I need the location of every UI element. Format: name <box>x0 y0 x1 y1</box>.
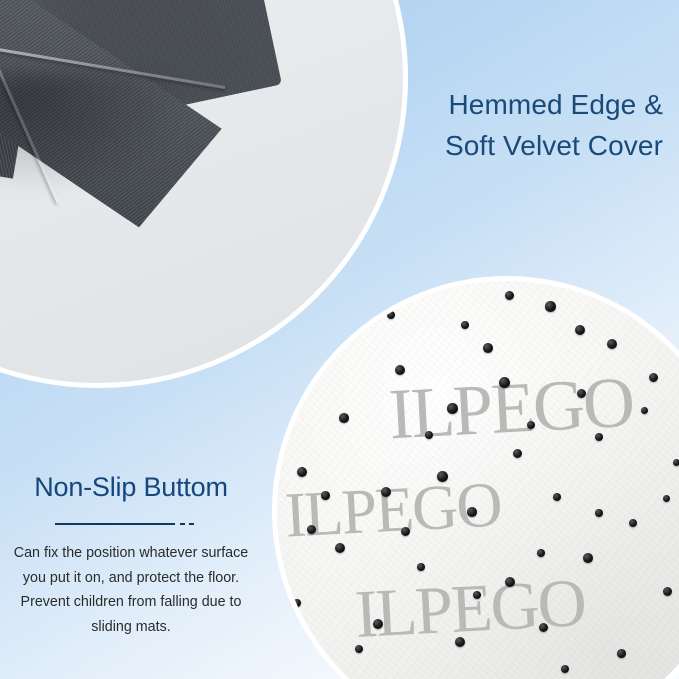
antislip-dot <box>425 431 433 439</box>
antislip-dot <box>617 649 626 658</box>
antislip-dot <box>381 487 391 497</box>
antislip-dot <box>307 525 316 534</box>
antislip-dot <box>663 495 670 502</box>
antislip-dot <box>499 377 510 388</box>
antislip-dot <box>673 343 679 353</box>
antislip-dot <box>607 339 617 349</box>
antislip-dot <box>527 421 535 429</box>
antislip-dot <box>395 365 405 375</box>
antislip-dot <box>505 577 515 587</box>
antislip-dot <box>297 467 307 477</box>
antislip-dot <box>401 527 410 536</box>
antislip-dot <box>355 645 363 653</box>
antislip-dot <box>293 599 301 607</box>
antislip-dot <box>595 509 603 517</box>
top-headline: Hemmed Edge & Soft Velvet Cover <box>363 84 663 167</box>
antislip-dot <box>335 543 345 553</box>
antislip-dot <box>461 321 469 329</box>
antislip-dot <box>673 459 679 466</box>
antislip-dot <box>417 563 425 571</box>
antislip-dot <box>575 325 585 335</box>
antislip-dot <box>663 587 672 596</box>
antislip-dot-pattern <box>277 281 679 679</box>
antislip-dot <box>321 491 330 500</box>
product-feature-graphic: Hemmed Edge & Soft Velvet Cover ILPEGO I… <box>0 0 679 679</box>
antislip-dot <box>629 519 637 527</box>
antislip-dot <box>537 549 545 557</box>
divider-line <box>55 523 175 525</box>
antislip-dot <box>553 493 561 501</box>
antislip-dot <box>467 507 477 517</box>
antislip-dot <box>577 389 586 398</box>
antislip-dot <box>539 623 548 632</box>
mat-corner-shadow <box>0 73 183 193</box>
body-copy-line: Can fix the position whatever surface <box>0 541 262 566</box>
top-headline-line-2: Soft Velvet Cover <box>363 125 663 166</box>
body-copy-line: sliding mats. <box>0 615 262 640</box>
divider-dash <box>180 523 185 525</box>
antislip-dot <box>473 591 481 599</box>
bottom-headline: Non-Slip Buttom <box>0 472 262 503</box>
antislip-dot <box>373 619 383 629</box>
antislip-dot <box>505 291 514 300</box>
top-headline-line-1: Hemmed Edge & <box>363 84 663 125</box>
body-copy-line: you put it on, and protect the floor. <box>0 566 262 591</box>
antislip-dot <box>329 673 336 679</box>
antislip-dot <box>583 553 593 563</box>
antislip-dot <box>641 407 648 414</box>
antislip-mat-photo-circle: ILPEGO ILPEGO ILPEGO <box>272 276 679 679</box>
antislip-dot <box>455 637 465 647</box>
antislip-dot <box>437 471 448 482</box>
antislip-dot <box>513 449 522 458</box>
body-copy-line: Prevent children from falling due to <box>0 590 262 615</box>
antislip-dot <box>649 373 658 382</box>
antislip-dot <box>387 311 395 319</box>
antislip-dot <box>561 665 569 673</box>
antislip-dot <box>631 297 642 308</box>
non-slip-text-block: Non-Slip Buttom Can fix the position wha… <box>0 472 262 639</box>
headline-divider <box>0 513 262 535</box>
antislip-dot <box>339 413 349 423</box>
divider-dash <box>189 523 194 525</box>
antislip-dot <box>545 301 556 312</box>
antislip-dot <box>595 433 603 441</box>
antislip-dot <box>447 403 458 414</box>
antislip-dot <box>675 313 679 323</box>
bottom-body-copy: Can fix the position whatever surfaceyou… <box>0 541 262 639</box>
antislip-dot <box>483 343 493 353</box>
